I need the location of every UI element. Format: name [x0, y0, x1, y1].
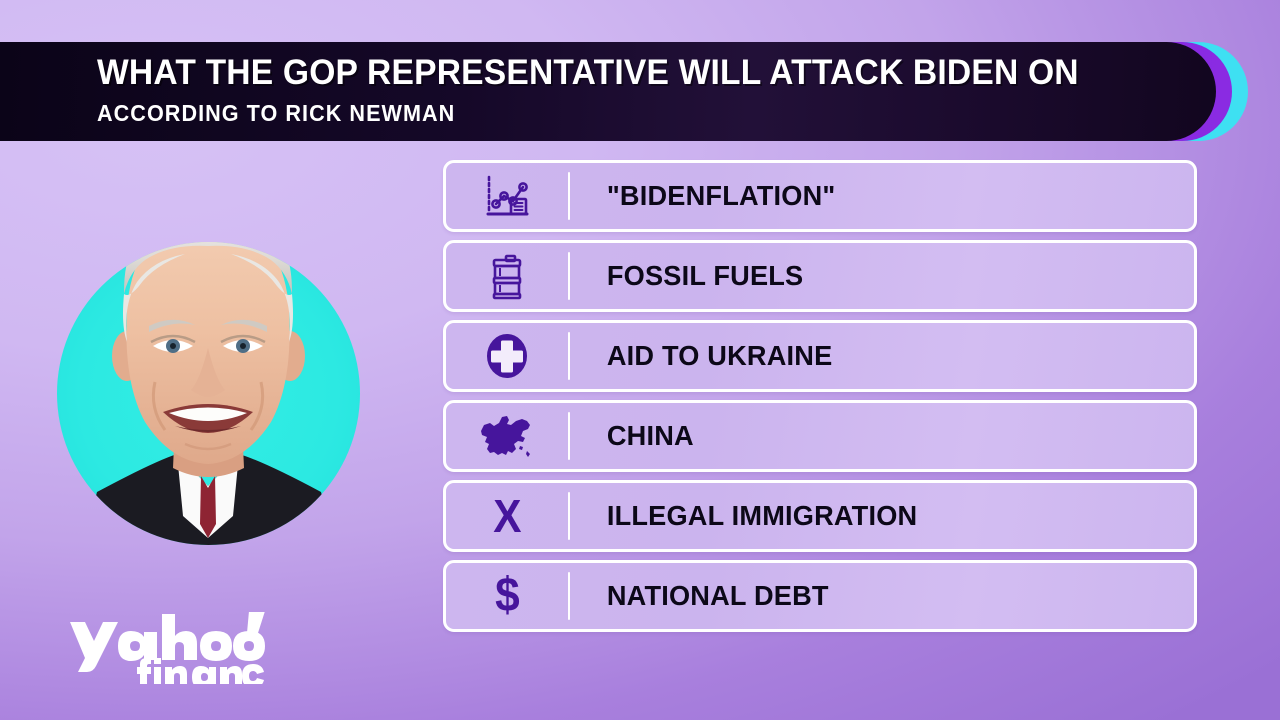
list-item-label: NATIONAL DEBT	[570, 580, 829, 612]
yahoo-finance-logo	[68, 612, 268, 684]
list-item[interactable]: X ILLEGAL IMMIGRATION	[443, 480, 1197, 552]
list-item[interactable]: CHINA	[443, 400, 1197, 472]
list-item[interactable]: FOSSIL FUELS	[443, 240, 1197, 312]
list-item[interactable]: $ NATIONAL DEBT	[443, 560, 1197, 632]
list-item[interactable]: AID TO UKRAINE	[443, 320, 1197, 392]
topic-list: "BIDENFLATION" FOSSIL FUELS	[443, 160, 1197, 640]
x-mark-glyph: X	[493, 493, 521, 539]
banner-body: WHAT THE GOP REPRESENTATIVE WILL ATTACK …	[0, 42, 1216, 141]
list-item-label: AID TO UKRAINE	[570, 340, 832, 372]
oil-barrel-icon	[446, 243, 568, 309]
x-mark-icon: X	[446, 483, 568, 549]
dollar-sign-glyph: $	[495, 572, 520, 620]
biden-portrait-image	[57, 186, 360, 546]
list-item-label: ILLEGAL IMMIGRATION	[570, 500, 917, 532]
page-subtitle: ACCORDING TO RICK NEWMAN	[97, 100, 455, 127]
page-title: WHAT THE GOP REPRESENTATIVE WILL ATTACK …	[97, 53, 1079, 93]
list-item-label: FOSSIL FUELS	[570, 260, 803, 292]
medical-cross-circle-icon	[446, 323, 568, 389]
avatar	[57, 242, 360, 545]
line-chart-document-icon	[446, 163, 568, 229]
list-item[interactable]: "BIDENFLATION"	[443, 160, 1197, 232]
broadcast-graphic: WHAT THE GOP REPRESENTATIVE WILL ATTACK …	[0, 0, 1280, 720]
logo-mark	[68, 612, 268, 684]
list-item-label: "BIDENFLATION"	[570, 180, 835, 212]
list-item-label: CHINA	[570, 420, 694, 452]
dollar-sign-icon: $	[446, 563, 568, 629]
china-map-icon	[446, 403, 568, 469]
title-banner: WHAT THE GOP REPRESENTATIVE WILL ATTACK …	[0, 42, 1248, 141]
